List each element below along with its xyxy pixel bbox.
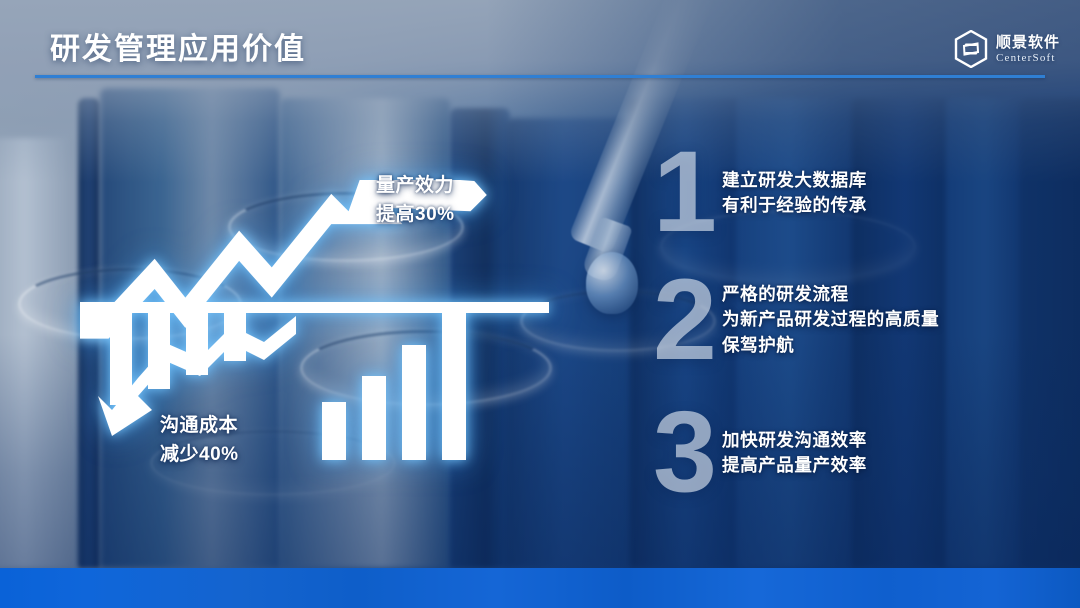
hexagon-s-logo-icon — [954, 30, 988, 68]
point-2-line-3: 保驾护航 — [722, 333, 939, 358]
title-divider — [35, 75, 1045, 78]
point-text-3: 加快研发沟通效率 提高产品量产效率 — [722, 428, 867, 479]
stat-up-label: 量产效力 提高30% — [376, 172, 455, 229]
page-title: 研发管理应用价值 — [50, 24, 306, 68]
point-2-line-1: 严格的研发流程 — [722, 282, 939, 307]
stat-up-line2: 提高30% — [376, 201, 455, 230]
point-2-line-2: 为新产品研发过程的高质量 — [722, 307, 939, 332]
growth-decline-arrow-graphic — [80, 180, 580, 480]
footer-bar — [0, 568, 1080, 608]
stat-down-label: 沟通成本 减少40% — [160, 412, 239, 469]
point-number-2: 2 — [648, 268, 722, 374]
point-item-1[interactable]: 1 建立研发大数据库 有利于经验的传承 — [648, 140, 867, 246]
point-1-line-1: 建立研发大数据库 — [722, 168, 867, 193]
point-3-line-1: 加快研发沟通效率 — [722, 428, 867, 453]
point-number-3: 3 — [648, 400, 722, 506]
point-1-line-2: 有利于经验的传承 — [722, 193, 867, 218]
stat-down-line2: 减少40% — [160, 441, 239, 470]
point-number-1: 1 — [648, 140, 722, 246]
point-text-2: 严格的研发流程 为新产品研发过程的高质量 保驾护航 — [722, 282, 939, 358]
stat-up-line1: 量产效力 — [376, 172, 455, 201]
point-item-3[interactable]: 3 加快研发沟通效率 提高产品量产效率 — [648, 400, 867, 506]
point-item-2[interactable]: 2 严格的研发流程 为新产品研发过程的高质量 保驾护航 — [648, 268, 939, 374]
logo-en-name: CenterSoft — [996, 53, 1060, 64]
point-3-line-2: 提高产品量产效率 — [722, 453, 867, 478]
slide-canvas: 研发管理应用价值 顺景软件 CenterSoft — [0, 0, 1080, 608]
brand-logo[interactable]: 顺景软件 CenterSoft — [954, 30, 1060, 68]
point-text-1: 建立研发大数据库 有利于经验的传承 — [722, 168, 867, 219]
logo-cn-name: 顺景软件 — [996, 35, 1060, 50]
stat-down-line1: 沟通成本 — [160, 412, 239, 441]
